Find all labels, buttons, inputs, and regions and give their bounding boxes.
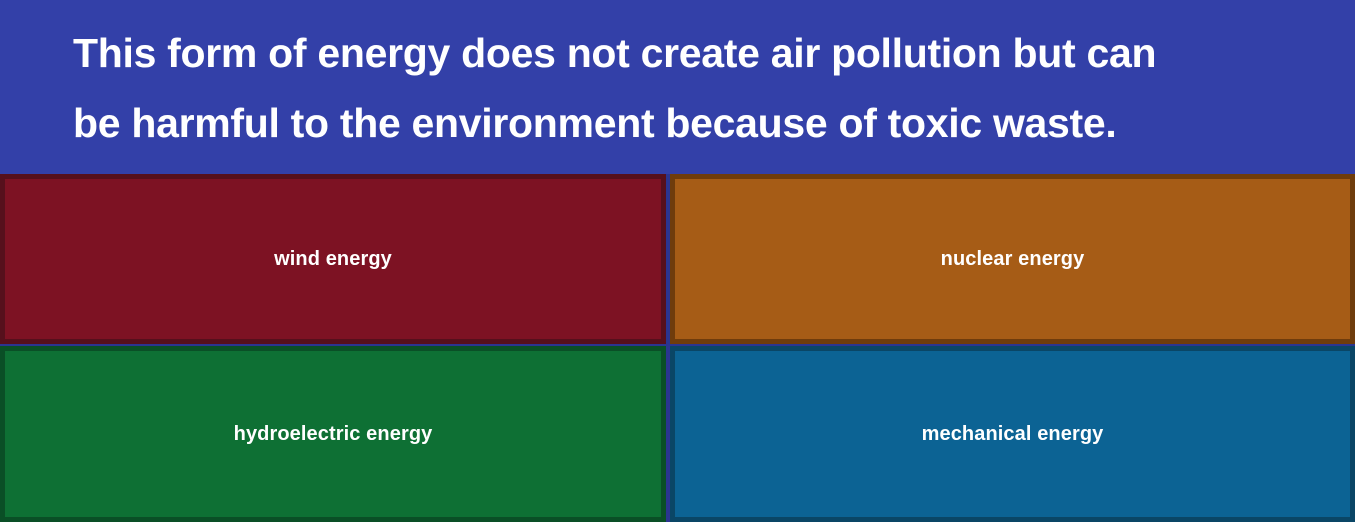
answer-option-mechanical-energy[interactable]: mechanical energy (670, 346, 1355, 522)
answer-option-label: mechanical energy (922, 421, 1104, 447)
question-header: This form of energy does not create air … (0, 0, 1355, 174)
answer-options-grid: wind energy nuclear energy hydroelectric… (0, 174, 1355, 522)
question-prompt: This form of energy does not create air … (73, 18, 1285, 158)
answer-option-label: wind energy (274, 246, 392, 272)
answer-option-label: nuclear energy (941, 246, 1085, 272)
answer-option-nuclear-energy[interactable]: nuclear energy (670, 174, 1355, 344)
answer-option-wind-energy[interactable]: wind energy (0, 174, 666, 344)
answer-option-label: hydroelectric energy (234, 421, 433, 447)
answer-option-hydroelectric-energy[interactable]: hydroelectric energy (0, 346, 666, 522)
quiz-screen: This form of energy does not create air … (0, 0, 1355, 522)
